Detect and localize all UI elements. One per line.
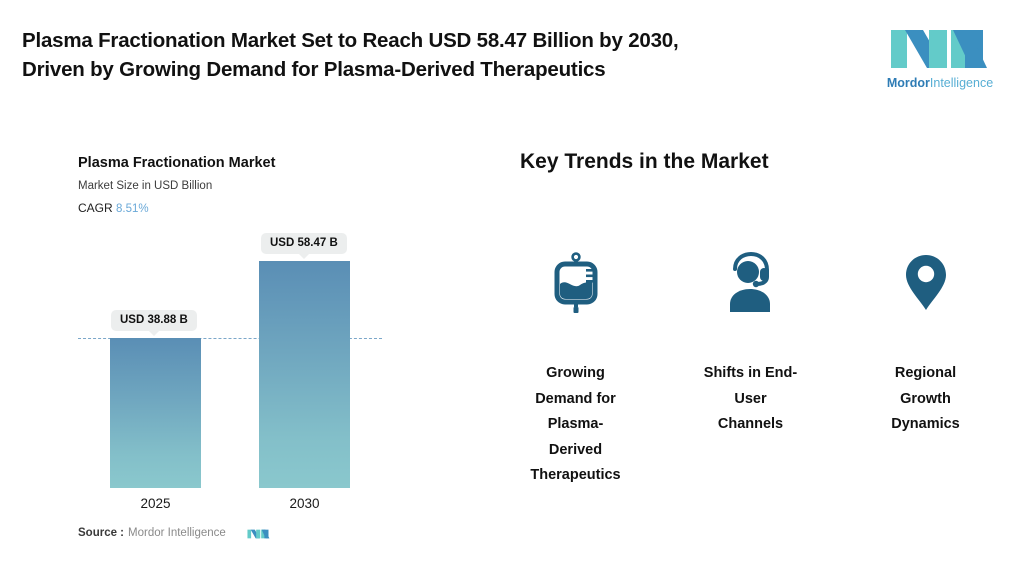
trend-item-regional-growth: Regional Growth Dynamics [838,252,1013,489]
bar-chart-plot-area: USD 38.88 B USD 58.47 B 2025 2030 [0,112,430,512]
trend-label-regional-growth: Regional Growth Dynamics [851,361,1001,438]
chart-panel: Plasma Fractionation Market Market Size … [0,112,430,571]
bar-2030 [259,261,350,488]
trend-label-line: Regional [895,365,956,381]
x-axis-tick-2030: 2030 [259,496,350,511]
brand-wordmark-light: Intelligence [930,76,993,90]
trend-label-line: Growing [546,365,605,381]
trend-item-end-user-channels: Shifts in End- User Channels [663,252,838,489]
page-title: Plasma Fractionation Market Set to Reach… [22,26,852,84]
source-monogram-icon [247,526,271,542]
trend-label-end-user-channels: Shifts in End- User Channels [676,361,826,438]
trend-item-growing-demand: Growing Demand for Plasma- Derived Thera… [488,252,663,489]
brand-wordmark: MordorIntelligence [884,76,996,90]
key-trends-title: Key Trends in the Market [520,150,769,174]
chart-source-value: Mordor Intelligence [124,527,226,539]
map-pin-icon [898,252,954,314]
mordor-intelligence-monogram-icon [889,24,994,74]
chart-source-label: Source : [78,527,124,539]
page-title-line-1: Plasma Fractionation Market Set to Reach… [22,26,852,55]
bar-value-label-2025: USD 38.88 B [111,310,197,331]
trend-label-line: Dynamics [891,416,960,432]
mordor-intelligence-logo: MordorIntelligence [884,24,1002,96]
trend-label-line: Channels [718,416,783,432]
trend-label-growing-demand: Growing Demand for Plasma- Derived Thera… [501,361,651,489]
page-header: Plasma Fractionation Market Set to Reach… [0,0,1026,112]
trend-label-line: Plasma- [548,416,604,432]
trend-label-line: Demand for [535,391,616,407]
bar-value-label-2030: USD 58.47 B [261,233,347,254]
chart-source: Source :Mordor Intelligence [78,527,226,539]
trend-label-line: Growth [900,391,951,407]
iv-bag-icon [548,252,604,314]
trend-label-line: Derived [549,442,602,458]
trend-label-line: Shifts in End- [704,365,797,381]
trend-label-line: User [734,391,766,407]
page-title-line-2: Driven by Growing Demand for Plasma-Deri… [22,55,852,84]
x-axis-tick-2025: 2025 [110,496,201,511]
headset-agent-icon [723,252,779,314]
brand-wordmark-bold: Mordor [887,76,930,90]
key-trends-list: Growing Demand for Plasma- Derived Thera… [488,252,1014,489]
bar-2025 [110,338,201,488]
trend-label-line: Therapeutics [530,467,620,483]
key-trends-panel: Key Trends in the Market Growing Demand … [430,112,1026,571]
